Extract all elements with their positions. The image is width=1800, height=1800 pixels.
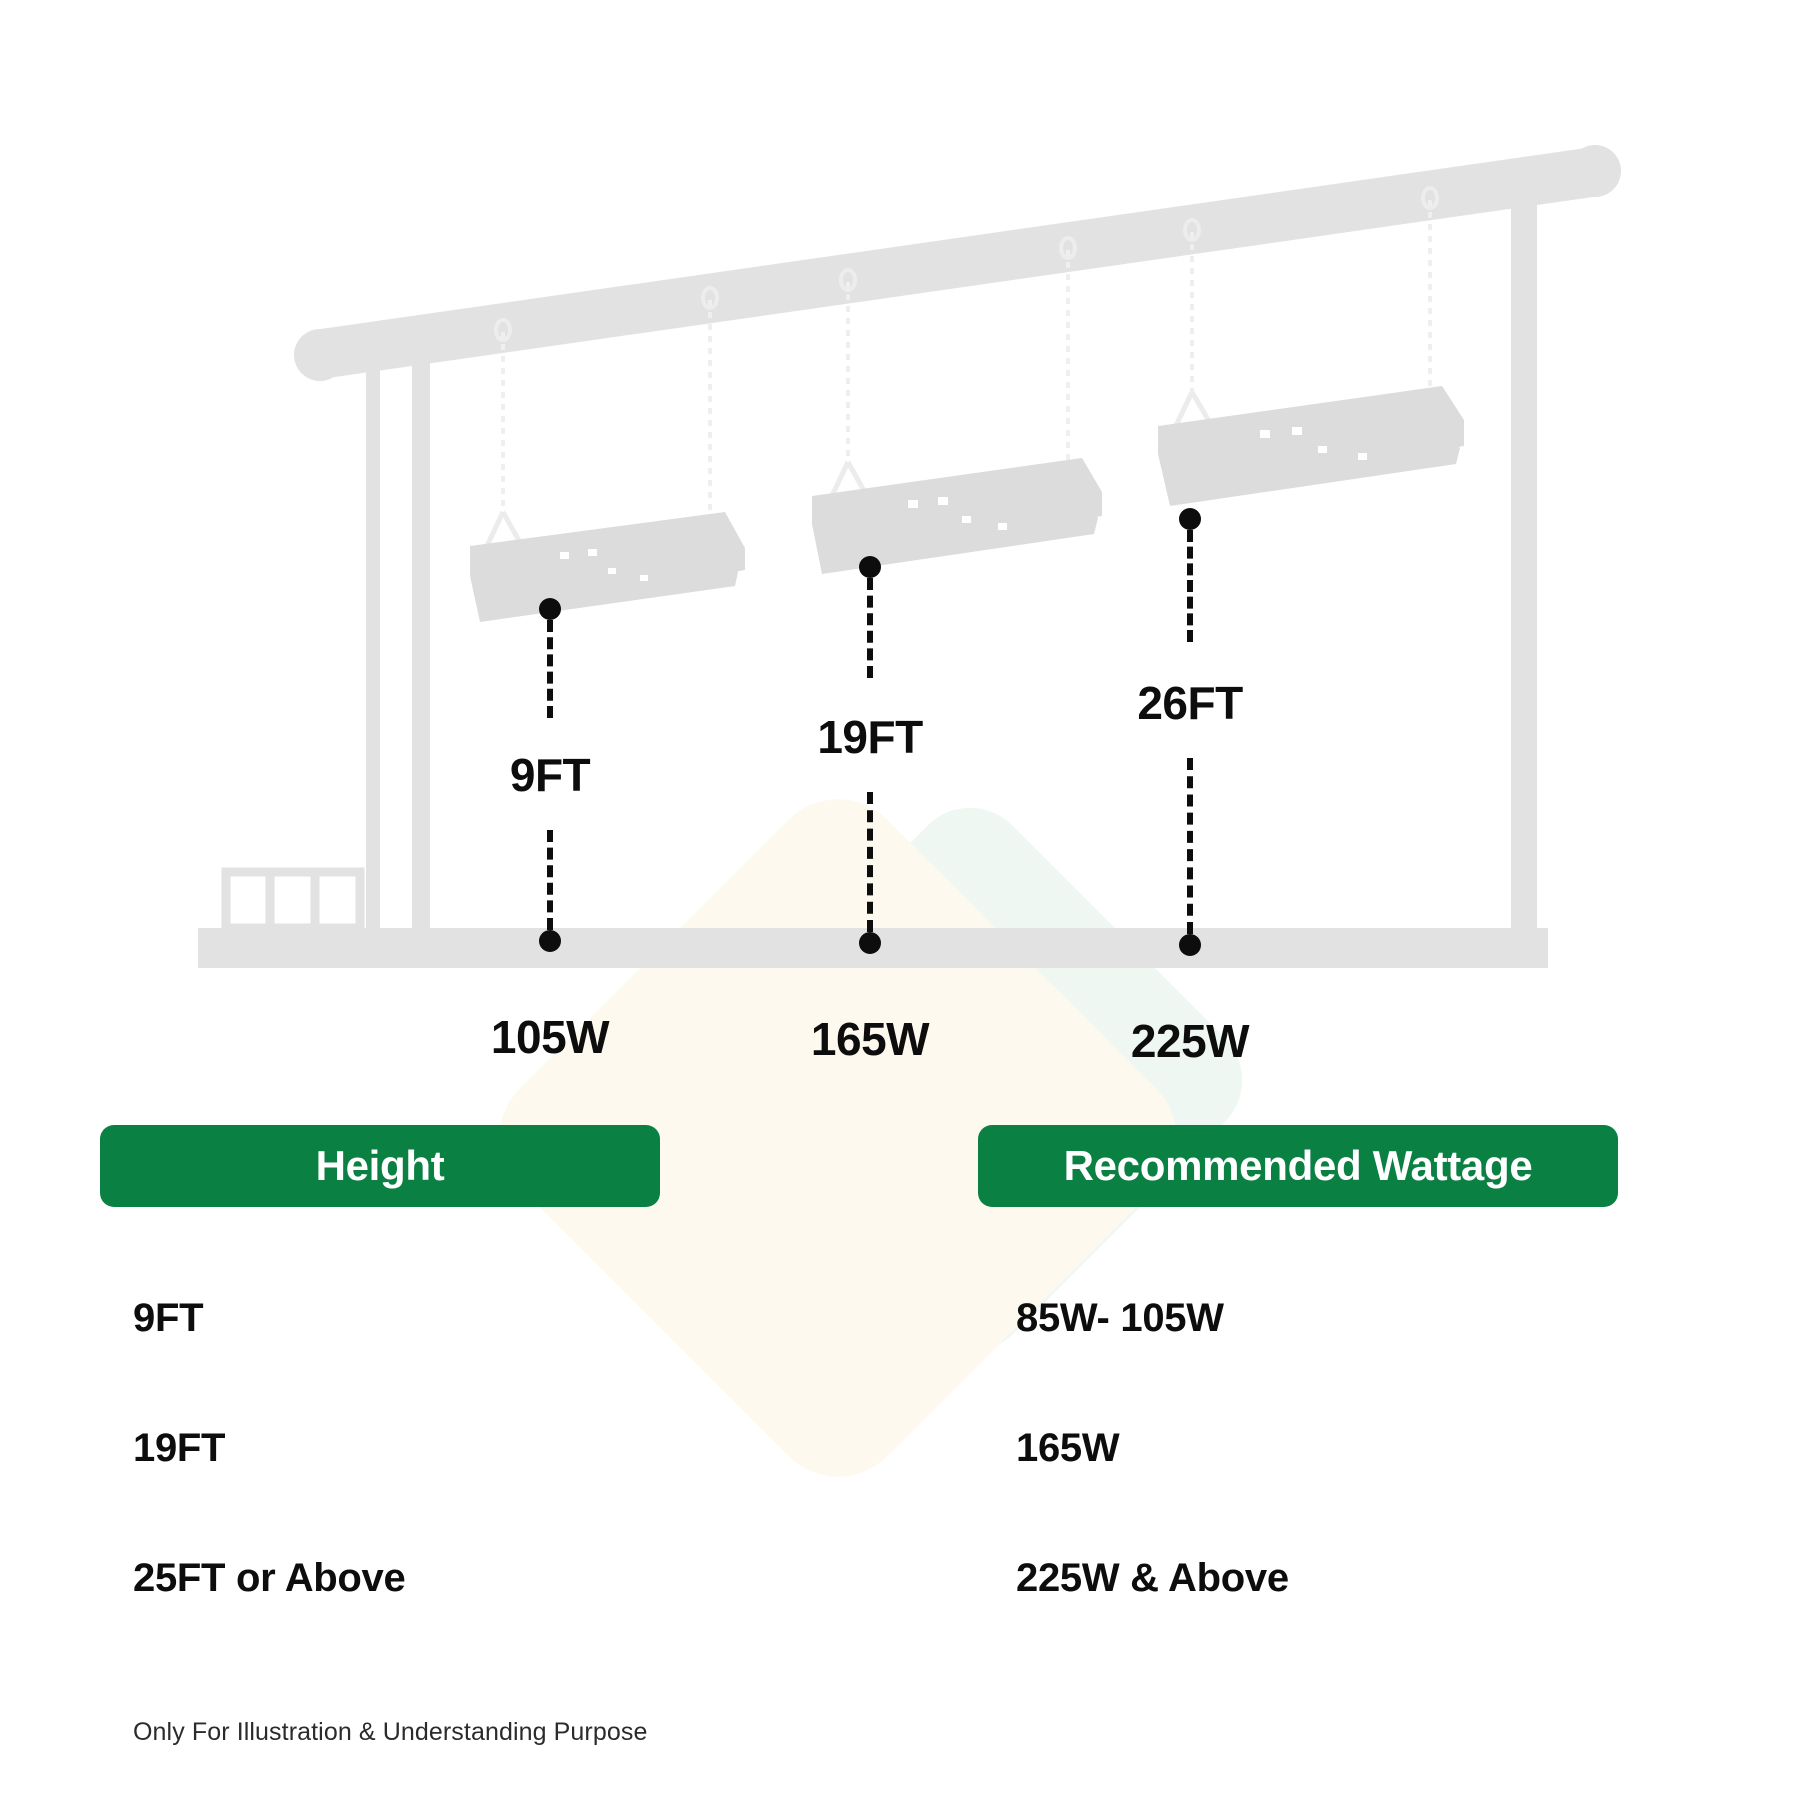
- measure-dash-lower-0: [547, 830, 553, 930]
- table-cell-height-1: 19FT: [133, 1428, 225, 1468]
- measure-dot-bottom-2: [1179, 934, 1201, 956]
- table-cell-height-2: 25FT or Above: [133, 1558, 405, 1598]
- table-cell-wattage-0: 85W- 105W: [1016, 1298, 1224, 1338]
- height-label-1: 19FT: [720, 714, 1020, 760]
- table-cell-height-0: 9FT: [133, 1298, 203, 1338]
- measure-dash-lower-1: [867, 792, 873, 932]
- infographic-page: 9FT 105W 19FT 165W 26FT 225W Height Reco…: [0, 0, 1800, 1800]
- table-header-height-label: Height: [316, 1142, 445, 1190]
- measure-dash-upper-0: [547, 620, 553, 718]
- table-cell-wattage-2: 225W & Above: [1016, 1558, 1289, 1598]
- table-header-height: Height: [100, 1125, 660, 1207]
- measure-column-2: 26FT 225W: [1040, 508, 1340, 1064]
- table-header-recommended-wattage: Recommended Wattage: [978, 1125, 1618, 1207]
- measure-column-0: 9FT 105W: [400, 598, 700, 1060]
- footer-disclaimer: Only For Illustration & Understanding Pu…: [133, 1718, 647, 1747]
- table-header-wattage-label: Recommended Wattage: [1064, 1142, 1533, 1190]
- measure-dash-lower-2: [1187, 758, 1193, 934]
- hanging-chains-icon: [503, 200, 1430, 540]
- measure-dot-top-0: [539, 598, 561, 620]
- wattage-label-1: 165W: [720, 1016, 1020, 1062]
- right-wall-post-icon: [1511, 190, 1537, 936]
- measure-dot-top-1: [859, 556, 881, 578]
- height-label-2: 26FT: [1040, 680, 1340, 726]
- height-label-0: 9FT: [400, 752, 700, 798]
- wattage-label-0: 105W: [400, 1014, 700, 1060]
- linear-high-bay-fixture-3-icon: [1158, 386, 1464, 506]
- table-cell-wattage-1: 165W: [1016, 1428, 1119, 1468]
- roof-beam-icon: [294, 145, 1621, 381]
- measure-column-1: 19FT 165W: [720, 556, 1020, 1062]
- window-grid-icon: [226, 872, 360, 928]
- chain-eyelets-icon: [496, 188, 1437, 340]
- measure-dash-upper-1: [867, 578, 873, 678]
- wattage-label-2: 225W: [1040, 1018, 1340, 1064]
- measure-dot-bottom-1: [859, 932, 881, 954]
- measure-dash-upper-2: [1187, 530, 1193, 642]
- measure-dot-bottom-0: [539, 930, 561, 952]
- measure-dot-top-2: [1179, 508, 1201, 530]
